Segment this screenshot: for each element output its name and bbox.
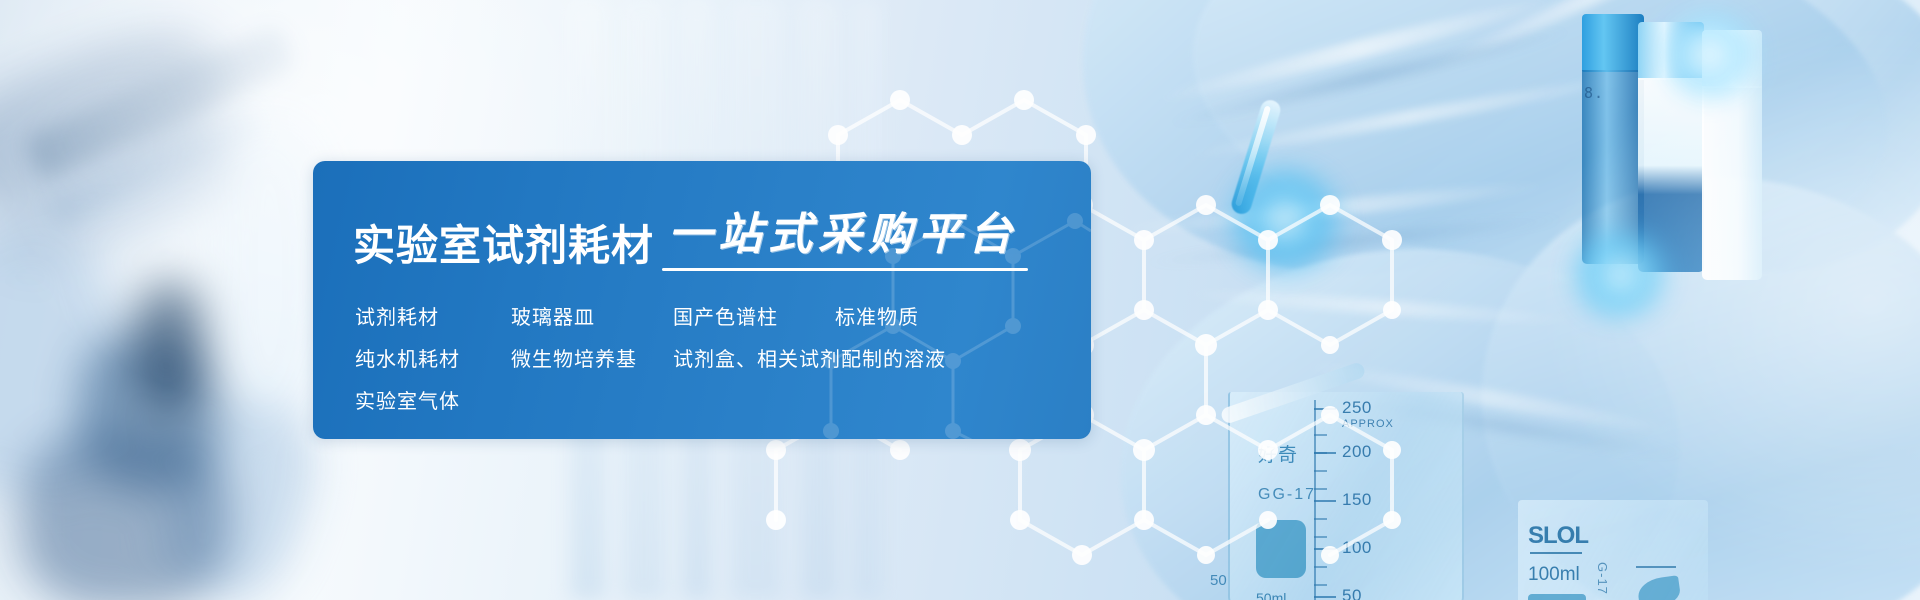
category-item-water-purifier-consumables[interactable]: 纯水机耗材 bbox=[355, 343, 511, 372]
beaker-scale-label-200: 200 bbox=[1342, 442, 1372, 462]
test-tube-cap bbox=[1702, 30, 1762, 88]
test-tube-marking-top: 8. bbox=[1584, 78, 1646, 108]
promo-panel: 实验室试剂耗材 一站式采购平台 试剂耗材 玻璃器皿 国产色谱柱 标准物质 纯水机… bbox=[313, 161, 1091, 439]
lab-supplies-banner: 8. 好奇 GG-17 50ml 50 40 250 APPROX 200 bbox=[0, 0, 1920, 600]
beaker-tick-major bbox=[1314, 596, 1336, 598]
beaker-volume-label: 100ml bbox=[1528, 564, 1580, 586]
test-tube-icon: 8. bbox=[1582, 14, 1644, 264]
headline-brush-wrap: 一站式采购平台 bbox=[668, 213, 1018, 267]
beaker-printed-chip bbox=[1528, 594, 1586, 600]
category-list: 试剂耗材 玻璃器皿 国产色谱柱 标准物质 纯水机耗材 微生物培养基 试剂盒、相关… bbox=[335, 297, 1051, 417]
category-row: 试剂耗材 玻璃器皿 国产色谱柱 标准物质 bbox=[355, 297, 1051, 333]
beaker-tick-minor bbox=[1314, 584, 1327, 586]
category-item-reagent-kits-and-solutions[interactable]: 试剂盒、相关试剂配制的溶液 bbox=[673, 343, 946, 372]
beaker-icon-secondary: SLOL 100ml G-17 bbox=[1518, 500, 1708, 600]
test-tube-body bbox=[1638, 78, 1704, 272]
beaker-tick-minor bbox=[1314, 434, 1327, 436]
beaker-scale-label-50: 50 bbox=[1342, 586, 1362, 600]
headline: 实验室试剂耗材 一站式采购平台 bbox=[335, 199, 1051, 267]
beaker-graduation-scale: 250 APPROX 200 150 100 50 bbox=[1314, 400, 1434, 600]
beaker-brand-label: SLOL bbox=[1528, 522, 1588, 550]
beaker-tick-minor bbox=[1314, 470, 1327, 472]
category-item-glassware[interactable]: 玻璃器皿 bbox=[511, 301, 673, 330]
beaker-tick-minor bbox=[1314, 536, 1327, 538]
beaker-tick-major bbox=[1314, 548, 1336, 550]
beaker-brand-label: 好奇 bbox=[1258, 440, 1298, 467]
test-tube-body bbox=[1702, 86, 1762, 280]
beaker-scale-label-150: 150 bbox=[1342, 490, 1372, 510]
beaker-model-label: G-17 bbox=[1595, 562, 1610, 595]
beaker-tick-major bbox=[1314, 452, 1336, 454]
category-item-laboratory-gas[interactable]: 实验室气体 bbox=[355, 385, 511, 414]
headline-brush-text: 一站式采购平台 bbox=[668, 209, 1018, 260]
test-tube-cap bbox=[1638, 22, 1704, 80]
beaker-extra-label: 50 bbox=[1210, 572, 1227, 589]
headline-underline-rule bbox=[662, 268, 1028, 271]
category-item-reagent-consumables[interactable]: 试剂耗材 bbox=[355, 301, 511, 330]
beaker-tick-minor bbox=[1314, 488, 1327, 490]
beaker-volume-label: 50ml bbox=[1256, 590, 1286, 600]
beaker-icon: 好奇 GG-17 50ml 50 40 250 APPROX 200 150 1… bbox=[1228, 392, 1464, 600]
category-item-microbial-culture-medium[interactable]: 微生物培养基 bbox=[511, 343, 673, 372]
beaker-scale-label-250: 250 bbox=[1342, 398, 1372, 418]
category-item-reference-material[interactable]: 标准物质 bbox=[835, 301, 919, 330]
beaker-printed-chip bbox=[1256, 520, 1306, 578]
beaker-tick-minor bbox=[1314, 518, 1327, 520]
category-row: 纯水机耗材 微生物培养基 试剂盒、相关试剂配制的溶液 bbox=[355, 339, 1051, 375]
test-tube-icon bbox=[1638, 22, 1704, 272]
beaker-model-label: GG-17 bbox=[1258, 486, 1316, 504]
beaker-tick-major bbox=[1314, 408, 1336, 410]
headline-main-text: 实验室试剂耗材 bbox=[353, 225, 654, 267]
beaker-tick-major bbox=[1314, 500, 1336, 502]
beaker-approx-label: APPROX bbox=[1342, 418, 1394, 430]
beaker-tick-minor bbox=[1314, 566, 1327, 568]
test-tube-cap bbox=[1582, 14, 1644, 72]
category-row: 实验室气体 bbox=[355, 381, 1051, 417]
beaker-scale-label-100: 100 bbox=[1342, 538, 1372, 558]
test-tube-icon bbox=[1702, 30, 1762, 280]
beaker-tick-major bbox=[1636, 566, 1676, 568]
category-item-domestic-chromatography-column[interactable]: 国产色谱柱 bbox=[673, 301, 835, 330]
